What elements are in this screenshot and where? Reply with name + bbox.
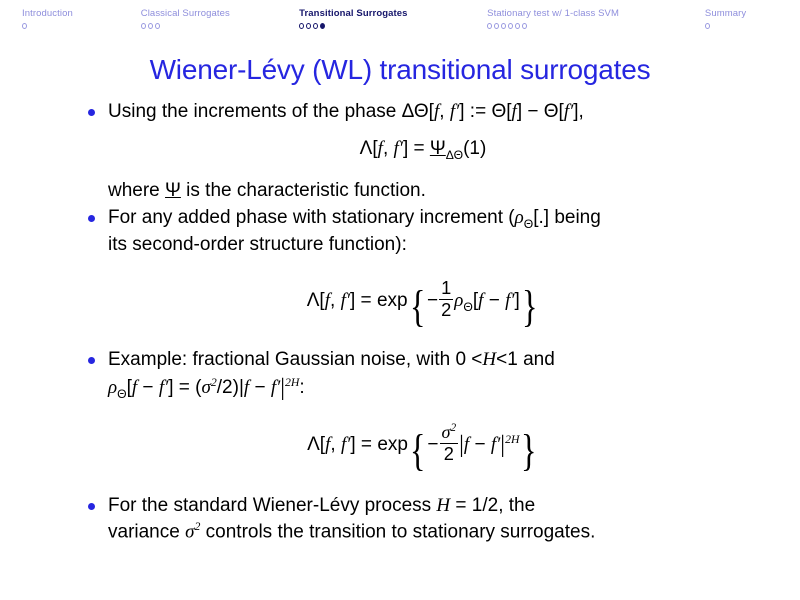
bullet-dot-icon (88, 215, 95, 222)
bullet-1-comma: , (439, 101, 450, 122)
bullet-1-var-fprime2: f′ (564, 101, 573, 122)
nav-section-label: Introduction (22, 8, 73, 21)
nav-section-dots (22, 23, 27, 29)
nav-section-transitional-surrogates[interactable]: Transitional Surrogates (299, 8, 487, 29)
nav-dot[interactable] (522, 23, 527, 29)
eq2-brace-close: } (522, 289, 537, 324)
nav-section-label: Stationary test w/ 1-class SVM (487, 8, 619, 21)
eq3-comma: , (330, 435, 341, 456)
eq1-psi: Ψ (430, 138, 446, 159)
nav-section-dots (705, 23, 710, 29)
bullet-2-line-2: its second-order structure function): (108, 233, 760, 258)
bullet-2-post: [.] being (533, 207, 601, 228)
equation-2: Λ[f, f′] = exp{−12ρΘ[f − f′]} (86, 279, 760, 324)
nav-dot[interactable] (515, 23, 520, 29)
bullet-1-var-fprime: f′ (450, 101, 459, 122)
bullet-3-div: /2)| (217, 377, 244, 398)
eq1-lambda: Λ[ (360, 138, 378, 159)
eq3-exp: exp (377, 435, 408, 456)
eq3-brace-open: { (410, 433, 425, 468)
eq2-arg-fprime: f′ (505, 290, 514, 311)
eq2-frac-numerator: 1 (439, 279, 453, 300)
nav-section-dots (487, 23, 527, 29)
bullet-3-var-H: H (482, 349, 496, 370)
nav-dot[interactable] (299, 23, 304, 29)
eq2-frac-denominator: 2 (439, 300, 453, 320)
bullet-3-minus: − (137, 377, 159, 398)
bullet-item-4: For the standard Wiener-Lévy process H =… (86, 494, 760, 545)
eq3-brace-close: } (521, 433, 536, 468)
bullet-3-exponent: 2H (285, 375, 299, 388)
bullet-1-mid2: ] − Θ[ (517, 101, 564, 122)
nav-section-classical-surrogates[interactable]: Classical Surrogates (141, 8, 299, 29)
bullet-3-rho-subscript: Θ (117, 387, 126, 401)
bullet-4-line2-pre: variance (108, 521, 185, 542)
bullet-4-var-H: H (436, 495, 450, 516)
eq2-brace-open: { (410, 289, 425, 324)
nav-dot[interactable] (155, 23, 160, 29)
nav-dot[interactable] (501, 23, 506, 29)
bullet-3-rho: ρ (108, 377, 117, 398)
nav-dot[interactable] (306, 23, 311, 29)
bullet-1-delta-theta: ΔΘ[ (402, 101, 434, 122)
bullet-3-close: ] = ( (168, 377, 201, 398)
bullet-3-one-and: 1 and (507, 349, 555, 370)
eq2-comma: , (330, 290, 341, 311)
nav-dot[interactable] (705, 23, 710, 29)
eq3-frac-denominator: 2 (440, 444, 459, 464)
eq3-exponent: 2H (505, 433, 519, 446)
eq1-fprime: f′ (394, 138, 403, 159)
nav-section-introduction[interactable]: Introduction (22, 8, 141, 29)
bullet-2-pre: For any added phase with stationary incr… (108, 207, 515, 228)
nav-dot[interactable] (508, 23, 513, 29)
eq3-fprime: f′ (341, 435, 350, 456)
note-post: is the characteristic function. (181, 180, 426, 201)
bullet-3-line-1: Example: fractional Gaussian noise, with… (108, 348, 760, 373)
eq2-rho-subscript: Θ (463, 300, 472, 314)
bullet-item-3: Example: fractional Gaussian noise, with… (86, 348, 760, 404)
bullet-4-line-2: variance σ2 controls the transition to s… (108, 519, 760, 545)
bullet-4-line2-post: controls the transition to stationary su… (200, 521, 595, 542)
bullet-3-lt2: < (496, 349, 507, 370)
eq1-equals: = (408, 138, 430, 159)
slide-title: Wiener-Lévy (WL) transitional surrogates (0, 54, 800, 86)
equation-1: Λ[f, f′] = ΨΔΘ(1) (86, 137, 760, 164)
eq3-arg-fprime: f′ (491, 435, 500, 456)
eq3-minus: − (427, 435, 438, 456)
eq2-exp: exp (377, 290, 408, 311)
bullet-2-rho-subscript: Θ (524, 217, 533, 231)
eq2-fraction: 12 (439, 279, 453, 319)
bullet-3-line-2: ρΘ[f − f′] = (σ2/2)|f − f′|2H: (108, 373, 760, 404)
nav-dot[interactable] (148, 23, 153, 29)
nav-section-dots (299, 23, 325, 29)
bullet-3-colon: : (299, 377, 304, 398)
bullet-4-eq: = 1/2, the (450, 495, 535, 516)
nav-dot[interactable] (494, 23, 499, 29)
bullet-1-tail: ], (573, 101, 584, 122)
nav-dot[interactable] (141, 23, 146, 29)
nav-dot[interactable] (313, 23, 318, 29)
note-pre: where (108, 180, 165, 201)
nav-dot[interactable] (22, 23, 27, 29)
eq3-frac-numerator: σ2 (440, 423, 459, 444)
eq3-equals: = (356, 435, 378, 456)
bullet-3-minus2: − (249, 377, 271, 398)
bullet-dot-icon (88, 357, 95, 364)
bullet-3-lt1: < (471, 349, 482, 370)
eq1-comma: , (383, 138, 394, 159)
nav-section-label: Transitional Surrogates (299, 8, 407, 21)
bullet-item-2: For any added phase with stationary incr… (86, 206, 760, 257)
eq2-arg-minus: − (483, 290, 505, 311)
slide-content: Using the increments of the phase ΔΘ[f, … (0, 100, 800, 545)
eq2-fprime: f′ (341, 290, 350, 311)
eq2-lambda: Λ[ (307, 290, 325, 311)
nav-section-label: Summary (705, 8, 746, 21)
eq3-lambda: Λ[ (307, 435, 325, 456)
bullet-2-rho: ρ (515, 207, 524, 228)
nav-dot-current[interactable] (320, 23, 325, 29)
nav-dot[interactable] (487, 23, 492, 29)
bullet-3-sigma: σ (202, 377, 211, 398)
eq3-frac-sigma-power: 2 (451, 422, 457, 434)
nav-section-stationary-test[interactable]: Stationary test w/ 1-class SVM (487, 8, 705, 29)
bullet-3-fprime2: f′ (271, 377, 280, 398)
nav-section-summary[interactable]: Summary (705, 8, 794, 29)
bullet-3-fprime: f′ (159, 377, 168, 398)
bullet-4-pre: For the standard Wiener-Lévy process (108, 495, 436, 516)
eq2-minus: − (427, 290, 438, 311)
eq1-argument: (1) (463, 138, 486, 159)
bullet-3-pre: Example: fractional Gaussian noise, with… (108, 349, 471, 370)
eq3-fraction: σ22 (440, 423, 459, 463)
eq1-subscript: ΔΘ (446, 147, 463, 161)
eq3-arg-minus: − (469, 435, 491, 456)
bullet-dot-icon (88, 109, 95, 116)
bullet-dot-icon (88, 503, 95, 510)
bullet-1-lead: Using the increments of the phase (108, 101, 402, 122)
nav-section-label: Classical Surrogates (141, 8, 230, 21)
bullet-2-line-1: For any added phase with stationary incr… (108, 206, 760, 233)
eq3-frac-sigma: σ (442, 423, 451, 443)
nav-section-dots (141, 23, 160, 29)
bullet-item-1: Using the increments of the phase ΔΘ[f, … (86, 100, 760, 125)
bullet-4-line-1: For the standard Wiener-Lévy process H =… (108, 494, 760, 519)
eq2-equals: = (355, 290, 377, 311)
note-psi: Ψ (165, 180, 181, 201)
equation-3: Λ[f, f′] = exp{−σ22|f − f′|2H} (86, 423, 760, 468)
eq2-arg-close: ] (515, 290, 520, 311)
bullet-1-text: Using the increments of the phase ΔΘ[f, … (108, 100, 760, 125)
section-navigation-bar: Introduction Classical Surrogates Transi… (0, 0, 800, 38)
bullet-1-mid: ] := Θ[ (459, 101, 511, 122)
note-characteristic-function: where Ψ is the characteristic function. (86, 179, 760, 204)
